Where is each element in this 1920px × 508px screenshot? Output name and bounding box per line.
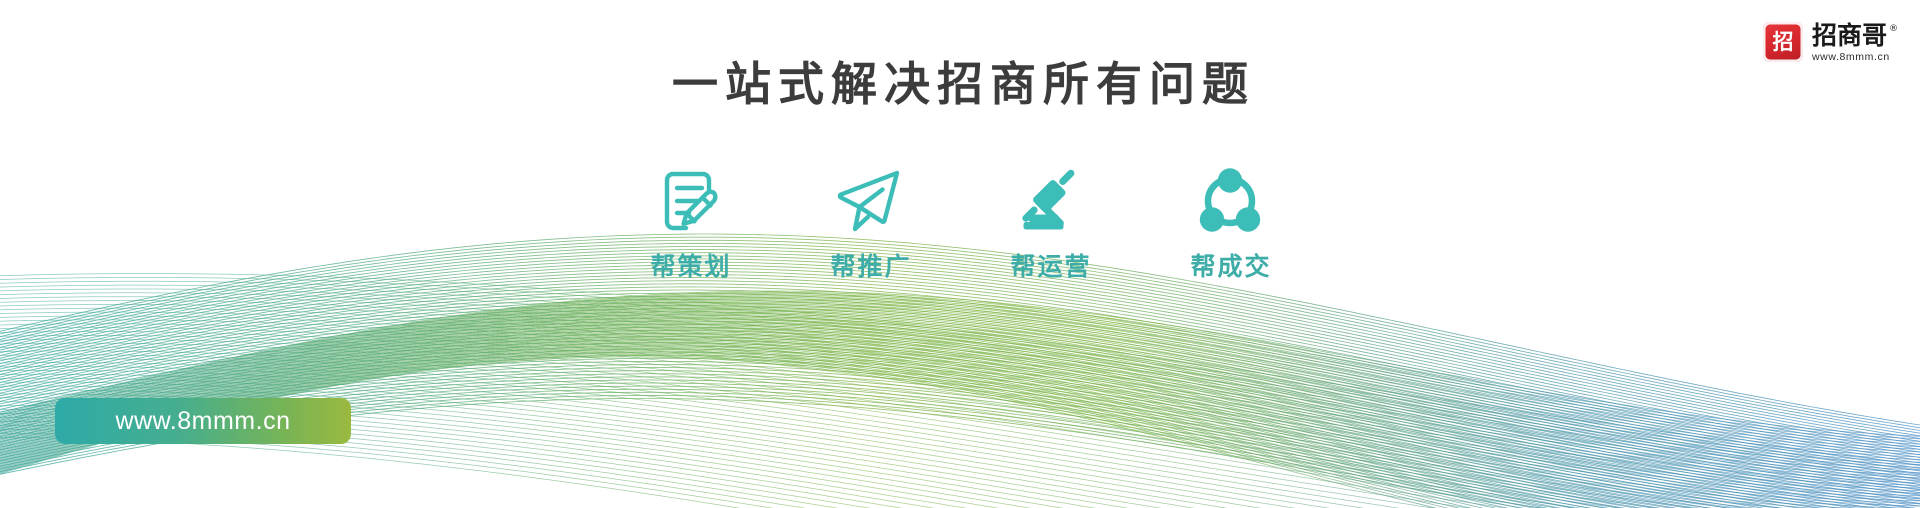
feature-list: 帮策划 帮推广 (0, 162, 1920, 279)
document-pencil-icon (653, 162, 727, 240)
feature-item-deal[interactable]: 帮成交 (1169, 162, 1291, 279)
banner-root: 招 招商哥 ® www.8mmm.cn 一站式解决招商所有问题 (0, 0, 1920, 508)
registered-trademark-icon: ® (1889, 25, 1898, 34)
paper-plane-icon (833, 162, 907, 240)
logo-mark-character: 招 (1768, 27, 1798, 57)
network-nodes-icon (1193, 162, 1267, 240)
feature-item-promotion[interactable]: 帮推广 (809, 162, 931, 279)
page-title: 一站式解决招商所有问题 (0, 56, 1920, 114)
feature-label: 帮推广 (828, 254, 911, 279)
website-url-badge[interactable]: www.8mmm.cn (55, 398, 351, 444)
feature-item-operations[interactable]: 帮运营 (989, 162, 1111, 279)
website-url-text: www.8mmm.cn (116, 409, 291, 434)
feature-label: 帮运营 (1008, 254, 1091, 279)
gavel-icon (1013, 162, 1087, 240)
logo-brand-name-row: 招商哥 ® (1812, 23, 1898, 49)
logo-brand-name: 招商哥 (1812, 23, 1887, 49)
feature-item-planning[interactable]: 帮策划 (629, 162, 751, 279)
feature-label: 帮策划 (648, 254, 731, 279)
feature-label: 帮成交 (1188, 254, 1271, 279)
